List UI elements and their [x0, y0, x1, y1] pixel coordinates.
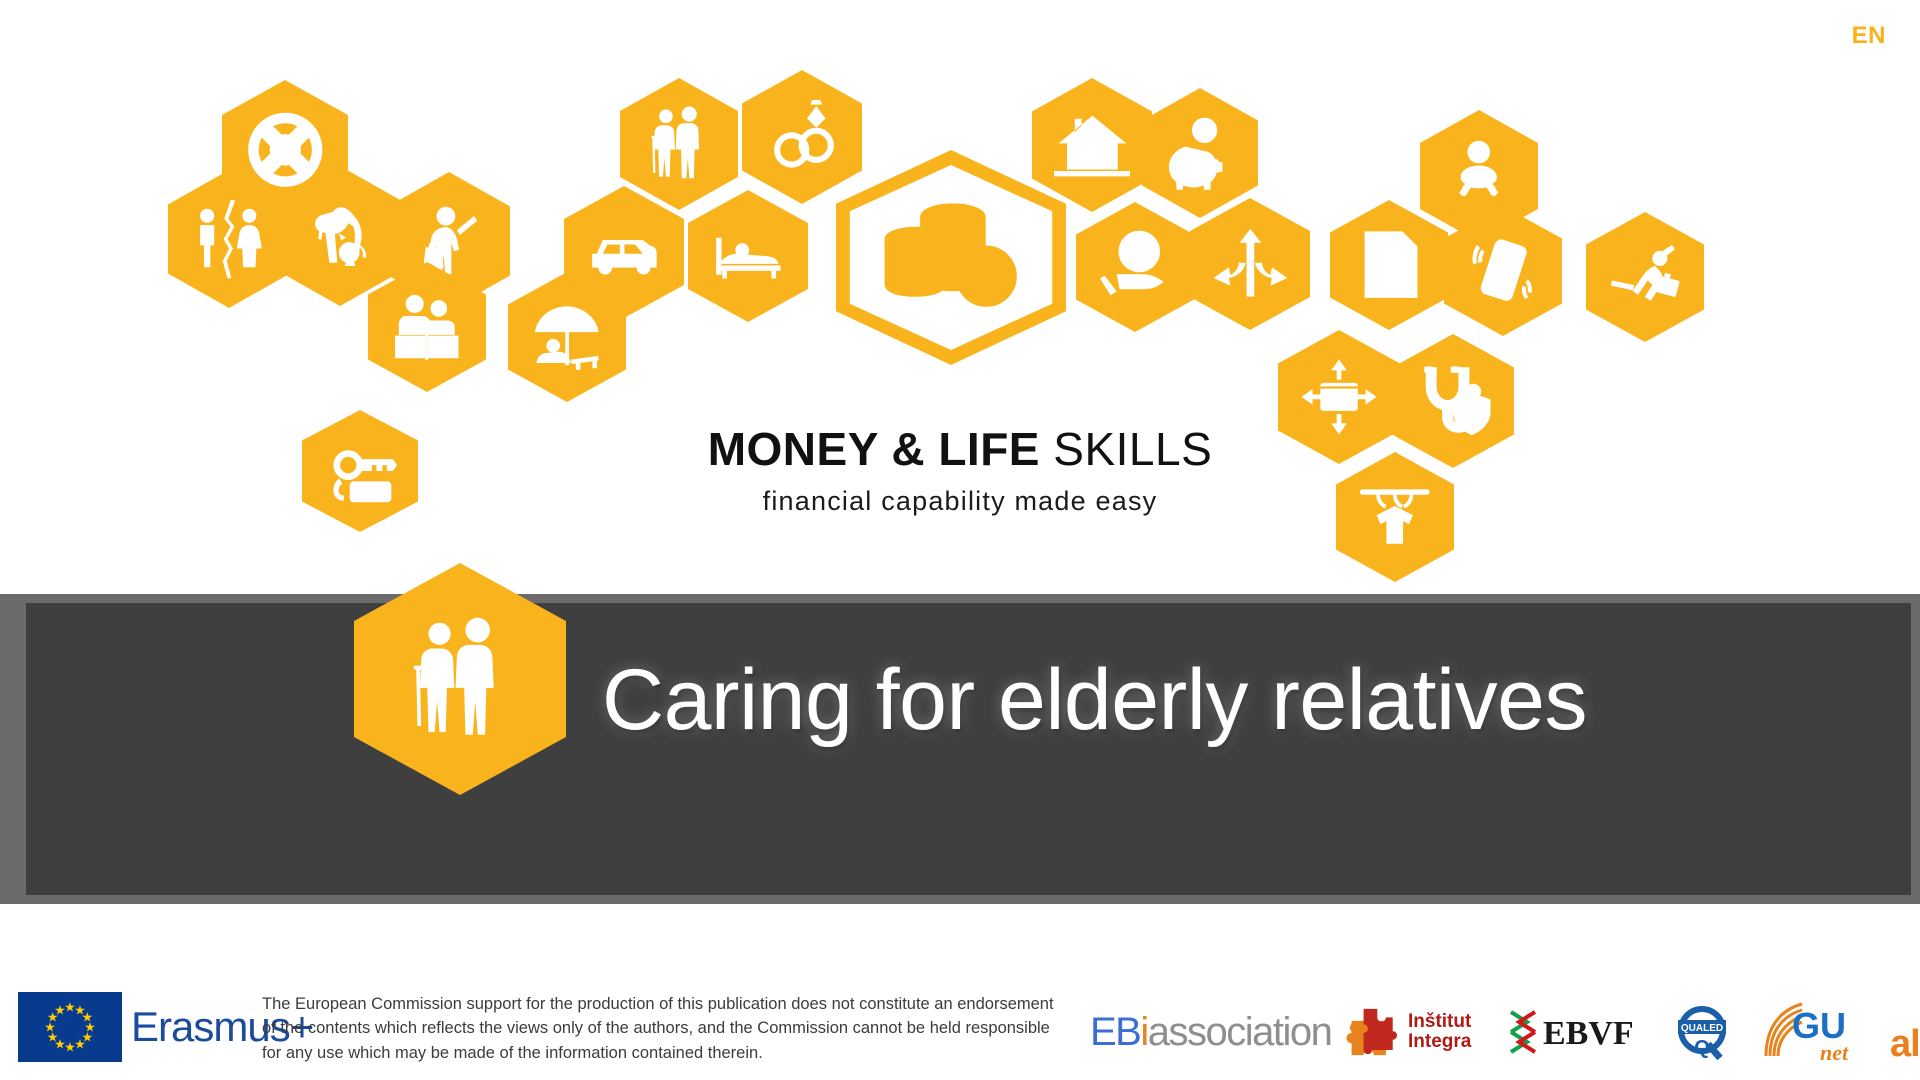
puzzle-icon: [1342, 1002, 1404, 1062]
disclaimer-text: The European Commission support for the …: [262, 992, 1062, 1065]
reading-children-icon: [389, 285, 465, 368]
smartphone-icon: [1465, 229, 1541, 312]
hex-accident: [1586, 212, 1704, 342]
qualed-letter: Q: [1694, 1037, 1710, 1059]
eu-star: ★: [64, 1041, 76, 1054]
car-icon: [586, 210, 663, 294]
footer: ★★★★★★★★★★★★ Erasmus+ The European Commi…: [0, 980, 1920, 1080]
topic-banner: Caring for elderly relatives: [0, 594, 1920, 904]
qualed-icon: QUALED Q: [1670, 1004, 1734, 1062]
pets-dog-cat-icon: [300, 191, 379, 281]
partner-logo-aldaima: aldaima: [1890, 1014, 1920, 1062]
integra-line2: Integra: [1408, 1032, 1471, 1052]
brand-title: MONEY & LIFE SKILLS: [0, 425, 1920, 473]
falling-person-accident-icon: [1607, 235, 1683, 318]
hand-euro-coin-icon: [1097, 225, 1173, 308]
topic-hexagon: [354, 563, 566, 795]
integra-text: Inštitut Integra: [1408, 1012, 1471, 1052]
qualed-label: QUALED: [1681, 1023, 1723, 1034]
elderly-couple-icon: [399, 612, 522, 747]
wedding-rings-icon: [764, 94, 841, 180]
baby-icon: [1441, 134, 1517, 218]
ebi-part1: EB: [1090, 1010, 1140, 1055]
hex-hand-euro: [1076, 202, 1194, 332]
aldaima-icon: aldaima: [1890, 1014, 1920, 1062]
beach-umbrella-icon: [529, 295, 605, 378]
divorce-separation-icon: [190, 195, 268, 283]
hex-elderly-couple: [620, 78, 738, 210]
hospital-bed-icon: [710, 214, 787, 298]
gunet-part2: net: [1820, 1040, 1849, 1065]
brand-title-bold: MONEY & LIFE: [708, 423, 1040, 475]
aldaima-label: aldaima: [1890, 1023, 1920, 1062]
partner-logo-ebi: EBiassociation: [1090, 1010, 1331, 1055]
slide-root: EN: [0, 0, 1920, 1080]
hex-hospital-bed: [688, 190, 808, 322]
partner-logo-gunet: GU net: [1762, 998, 1880, 1066]
brand-title-light-text: SKILLS: [1053, 423, 1212, 475]
brand-subtitle: financial capability made easy: [0, 486, 1920, 517]
partner-logo-qualed: QUALED Q: [1670, 1004, 1734, 1062]
partner-logo-institut-integra: Inštitut Integra: [1342, 1002, 1471, 1062]
directions-arrows-icon: [1212, 222, 1289, 306]
hex-piggy-bank: [1142, 88, 1258, 218]
ebi-part3: association: [1148, 1010, 1332, 1055]
partner-logos: EBiassociation Inštitut Integra EBVF: [1090, 988, 1920, 1076]
eu-star: ★: [74, 1038, 86, 1051]
document-cancel-icon: [1351, 223, 1427, 306]
topic-title: Caring for elderly relatives: [602, 651, 1587, 750]
ebvf-label: EBVF: [1543, 1015, 1634, 1052]
ebi-part2: i: [1140, 1010, 1147, 1055]
piggy-bank-euro-icon: [1163, 111, 1237, 194]
eu-flag-icon: ★★★★★★★★★★★★: [18, 992, 122, 1062]
ebvf-icon: EBVF: [1505, 1006, 1655, 1058]
topic-banner-inner: Caring for elderly relatives: [26, 603, 1911, 895]
partner-logo-ebvf: EBVF: [1505, 1006, 1655, 1058]
elderly-couple-icon: [641, 102, 717, 186]
hex-logo-center: [836, 150, 1066, 365]
hex-directions: [1190, 198, 1310, 330]
brand-title-light: [1040, 423, 1053, 475]
gunet-icon: GU net: [1762, 998, 1880, 1066]
integra-line1: Inštitut: [1408, 1012, 1471, 1032]
hex-document-cancel: [1330, 200, 1448, 330]
eu-star: ★: [54, 1003, 66, 1016]
brand-wordmark: MONEY & LIFE SKILLS financial capability…: [0, 425, 1920, 517]
coin-stack-euro-icon: [884, 195, 1017, 320]
